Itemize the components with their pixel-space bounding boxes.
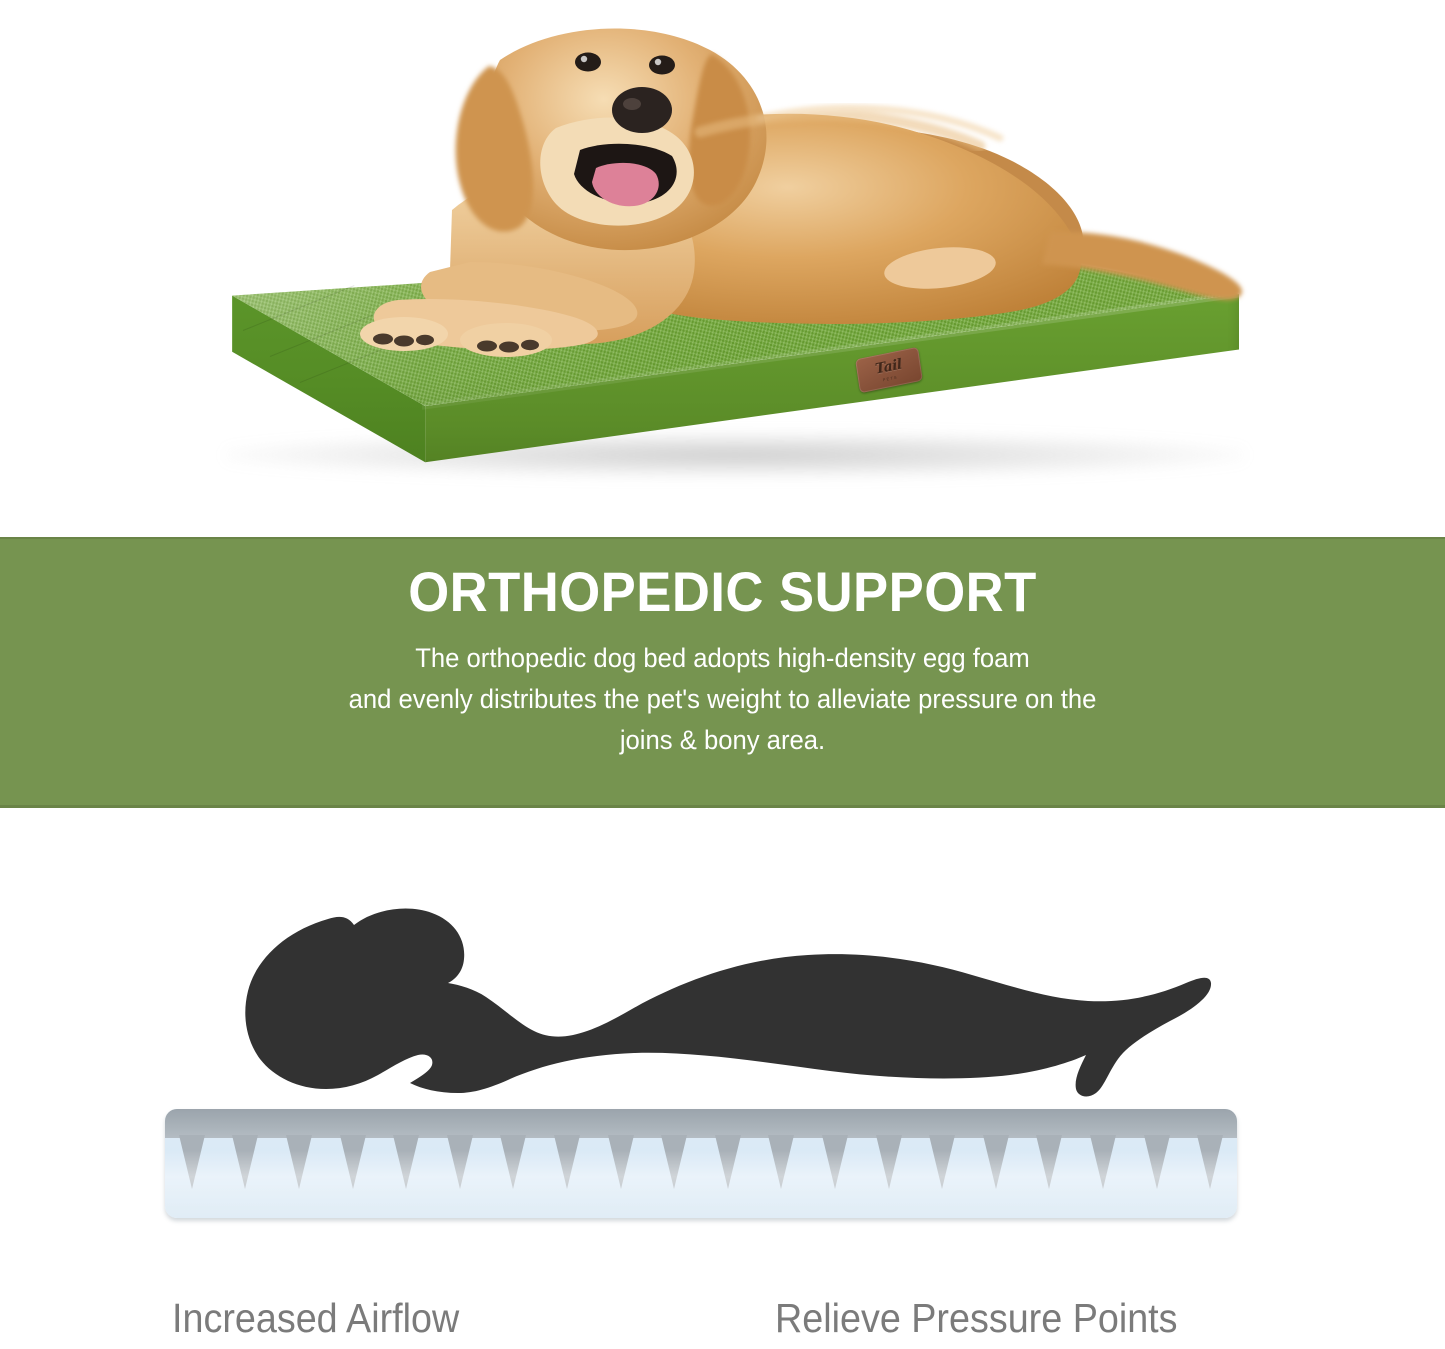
golden-retriever-photo <box>0 0 1445 537</box>
foam-spike <box>822 1135 848 1189</box>
foam-spike <box>232 1135 258 1189</box>
dog-eye-left <box>575 53 601 72</box>
caption-increased-airflow: Increased Airflow <box>172 1295 459 1342</box>
foam-spike <box>340 1135 366 1189</box>
band-title: ORTHOPEDIC SUPPORT <box>43 537 1401 622</box>
foam-spike <box>929 1135 955 1189</box>
foam-spike <box>393 1135 419 1189</box>
band-copy-line-1: The orthopedic dog bed adopts high-densi… <box>36 638 1409 679</box>
band-copy: The orthopedic dog bed adopts high-densi… <box>36 622 1409 761</box>
foam-spike <box>661 1135 687 1189</box>
foam-spike <box>768 1135 794 1189</box>
orthopedic-support-band: ORTHOPEDIC SUPPORT The orthopedic dog be… <box>0 537 1445 808</box>
foam-spike <box>608 1135 634 1189</box>
dog-nose <box>612 87 672 133</box>
foam-spike <box>1197 1135 1223 1189</box>
foam-spike <box>286 1135 312 1189</box>
dog-silhouette <box>242 903 1212 1128</box>
dog-silhouette-path <box>245 909 1211 1097</box>
foam-spike <box>554 1135 580 1189</box>
foam-spike <box>1090 1135 1116 1189</box>
foam-spike <box>500 1135 526 1189</box>
band-copy-line-3: joins & bony area. <box>36 720 1409 761</box>
band-copy-line-2: and evenly distributes the pet's weight … <box>36 679 1409 720</box>
foam-spike <box>179 1135 205 1189</box>
dog-eye-right <box>649 56 675 75</box>
foam-spike <box>1144 1135 1170 1189</box>
caption-relieve-pressure-points: Relieve Pressure Points <box>775 1295 1178 1342</box>
dog-tail <box>1042 232 1242 300</box>
foam-spike <box>876 1135 902 1189</box>
foam-spike <box>983 1135 1009 1189</box>
hero-stage: Tail PETS <box>0 0 1445 537</box>
foam-spike <box>447 1135 473 1189</box>
product-infographic-page: Tail PETS <box>0 0 1445 1349</box>
hero-product-photo: Tail PETS <box>0 0 1445 537</box>
foam-spike <box>715 1135 741 1189</box>
foam-cross-section-diagram <box>0 808 1445 1349</box>
foam-spike <box>1036 1135 1062 1189</box>
